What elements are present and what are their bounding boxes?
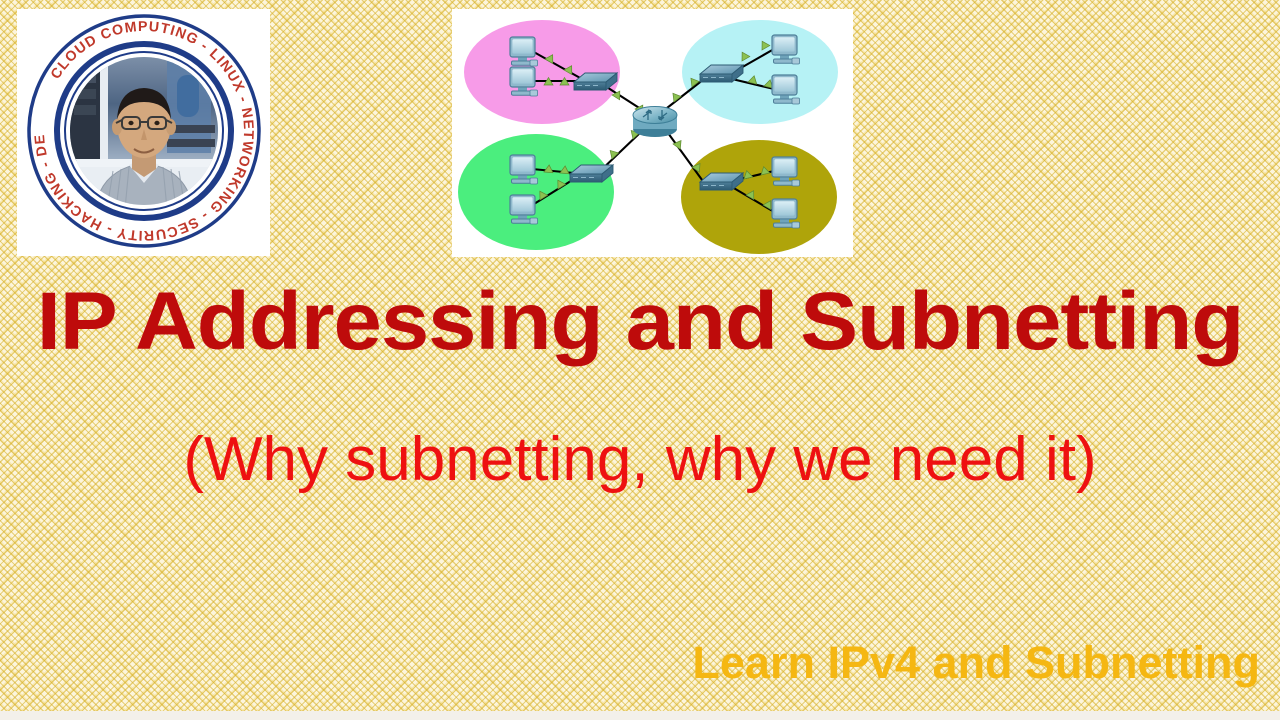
network-topology-graphic (452, 9, 853, 257)
pc-pink-1 (510, 37, 538, 66)
slide-canvas: CLOUD COMPUTING - LINUX - NETWORKING - S… (0, 0, 1280, 720)
page-subtitle: (Why subnetting, why we need it) (0, 424, 1280, 496)
bottom-strip (0, 711, 1280, 720)
pc-pink-2 (510, 67, 538, 96)
page-title: IP Addressing and Subnetting (0, 276, 1280, 368)
router-icon (633, 107, 677, 138)
subnet-pink-ellipse (464, 20, 620, 124)
pc-green-2 (510, 195, 538, 224)
pc-cyan-2 (772, 75, 800, 104)
network-topology-image (452, 9, 853, 257)
channel-logo: CLOUD COMPUTING - LINUX - NETWORKING - S… (17, 9, 270, 256)
subnet-olive-ellipse (681, 140, 837, 254)
pc-olive-2 (772, 199, 800, 228)
pc-olive-1 (772, 157, 800, 186)
footer-tagline: Learn IPv4 and Subnetting (692, 636, 1260, 690)
pc-green-1 (510, 155, 538, 184)
logo-graphic: CLOUD COMPUTING - LINUX - NETWORKING - S… (17, 9, 270, 256)
pc-cyan-1 (772, 35, 800, 64)
subnet-green-ellipse (458, 134, 614, 250)
avatar (70, 57, 218, 209)
